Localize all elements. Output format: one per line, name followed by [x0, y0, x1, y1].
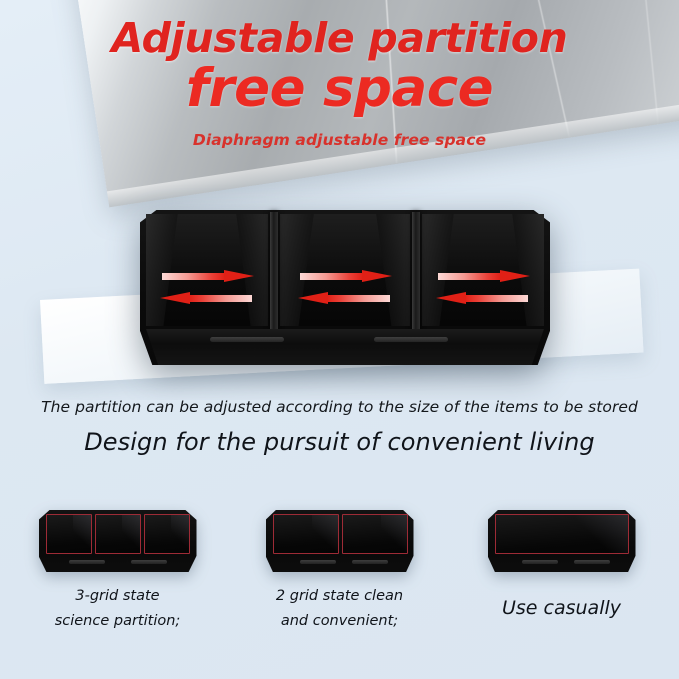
hero-scene: Adjustable partition free space Diaphrag… — [0, 0, 679, 400]
variant-caption: Use casually — [469, 584, 655, 623]
arrow-right-icon — [438, 270, 532, 283]
mini-cell — [342, 514, 408, 554]
mini-bin-graphic — [266, 510, 414, 572]
mini-cell — [144, 514, 190, 554]
headline-block: Adjustable partition free space Diaphrag… — [0, 18, 679, 149]
arrow-right-icon — [300, 270, 394, 283]
arrow-left-icon — [296, 292, 390, 305]
bin-divider-panel — [270, 212, 278, 338]
adjust-arrows-compartment-2 — [296, 268, 396, 314]
arrow-left-icon — [434, 292, 528, 305]
base-slot — [210, 337, 284, 342]
product-marketing-image: Adjustable partition free space Diaphrag… — [0, 0, 679, 679]
mini-bin-graphic — [488, 510, 636, 572]
arrow-right-icon — [162, 270, 256, 283]
variant-two-grid: 2 grid state clean and convenient; — [247, 510, 433, 635]
mini-base-rail — [69, 560, 105, 564]
variant-gallery: 3-grid state science partition; 2 grid s… — [0, 510, 679, 670]
sub-headline: Diaphragm adjustable free space — [0, 131, 679, 149]
variant-caption: 3-grid state science partition; — [25, 584, 211, 635]
mini-cell — [95, 514, 141, 554]
mid-copy-line-2: Design for the pursuit of convenient liv… — [0, 428, 679, 456]
mini-base-rail — [300, 560, 336, 564]
arrow-left-icon — [158, 292, 252, 305]
bin-base-rail — [142, 329, 548, 365]
variant-open-state: Use casually — [469, 510, 655, 623]
variant-caption-line-1: Use casually — [469, 594, 655, 623]
variant-three-grid: 3-grid state science partition; — [25, 510, 211, 635]
mini-bin-graphic — [39, 510, 197, 572]
mini-base-rail — [574, 560, 610, 564]
mid-copy-line-1: The partition can be adjusted according … — [0, 398, 679, 416]
mini-base-rail — [352, 560, 388, 564]
headline-line-1: Adjustable partition — [0, 18, 679, 60]
mid-copy-block: The partition can be adjusted according … — [0, 398, 679, 456]
mini-base-rail — [131, 560, 167, 564]
mini-cell — [495, 514, 629, 554]
mini-base-rail — [522, 560, 558, 564]
variant-caption-line-1: 3-grid state — [25, 584, 211, 609]
main-product-bin — [140, 210, 550, 365]
mini-cell — [46, 514, 92, 554]
adjust-arrows-compartment-1 — [158, 268, 258, 314]
variant-caption: 2 grid state clean and convenient; — [247, 584, 433, 635]
base-slot — [374, 337, 448, 342]
variant-caption-line-2: and convenient; — [247, 609, 433, 634]
headline-line-2: free space — [0, 62, 679, 115]
mini-cell — [273, 514, 339, 554]
variant-caption-line-1: 2 grid state clean — [247, 584, 433, 609]
bin-divider-panel — [412, 212, 420, 338]
adjust-arrows-compartment-3 — [434, 268, 534, 314]
variant-caption-line-2: science partition; — [25, 609, 211, 634]
